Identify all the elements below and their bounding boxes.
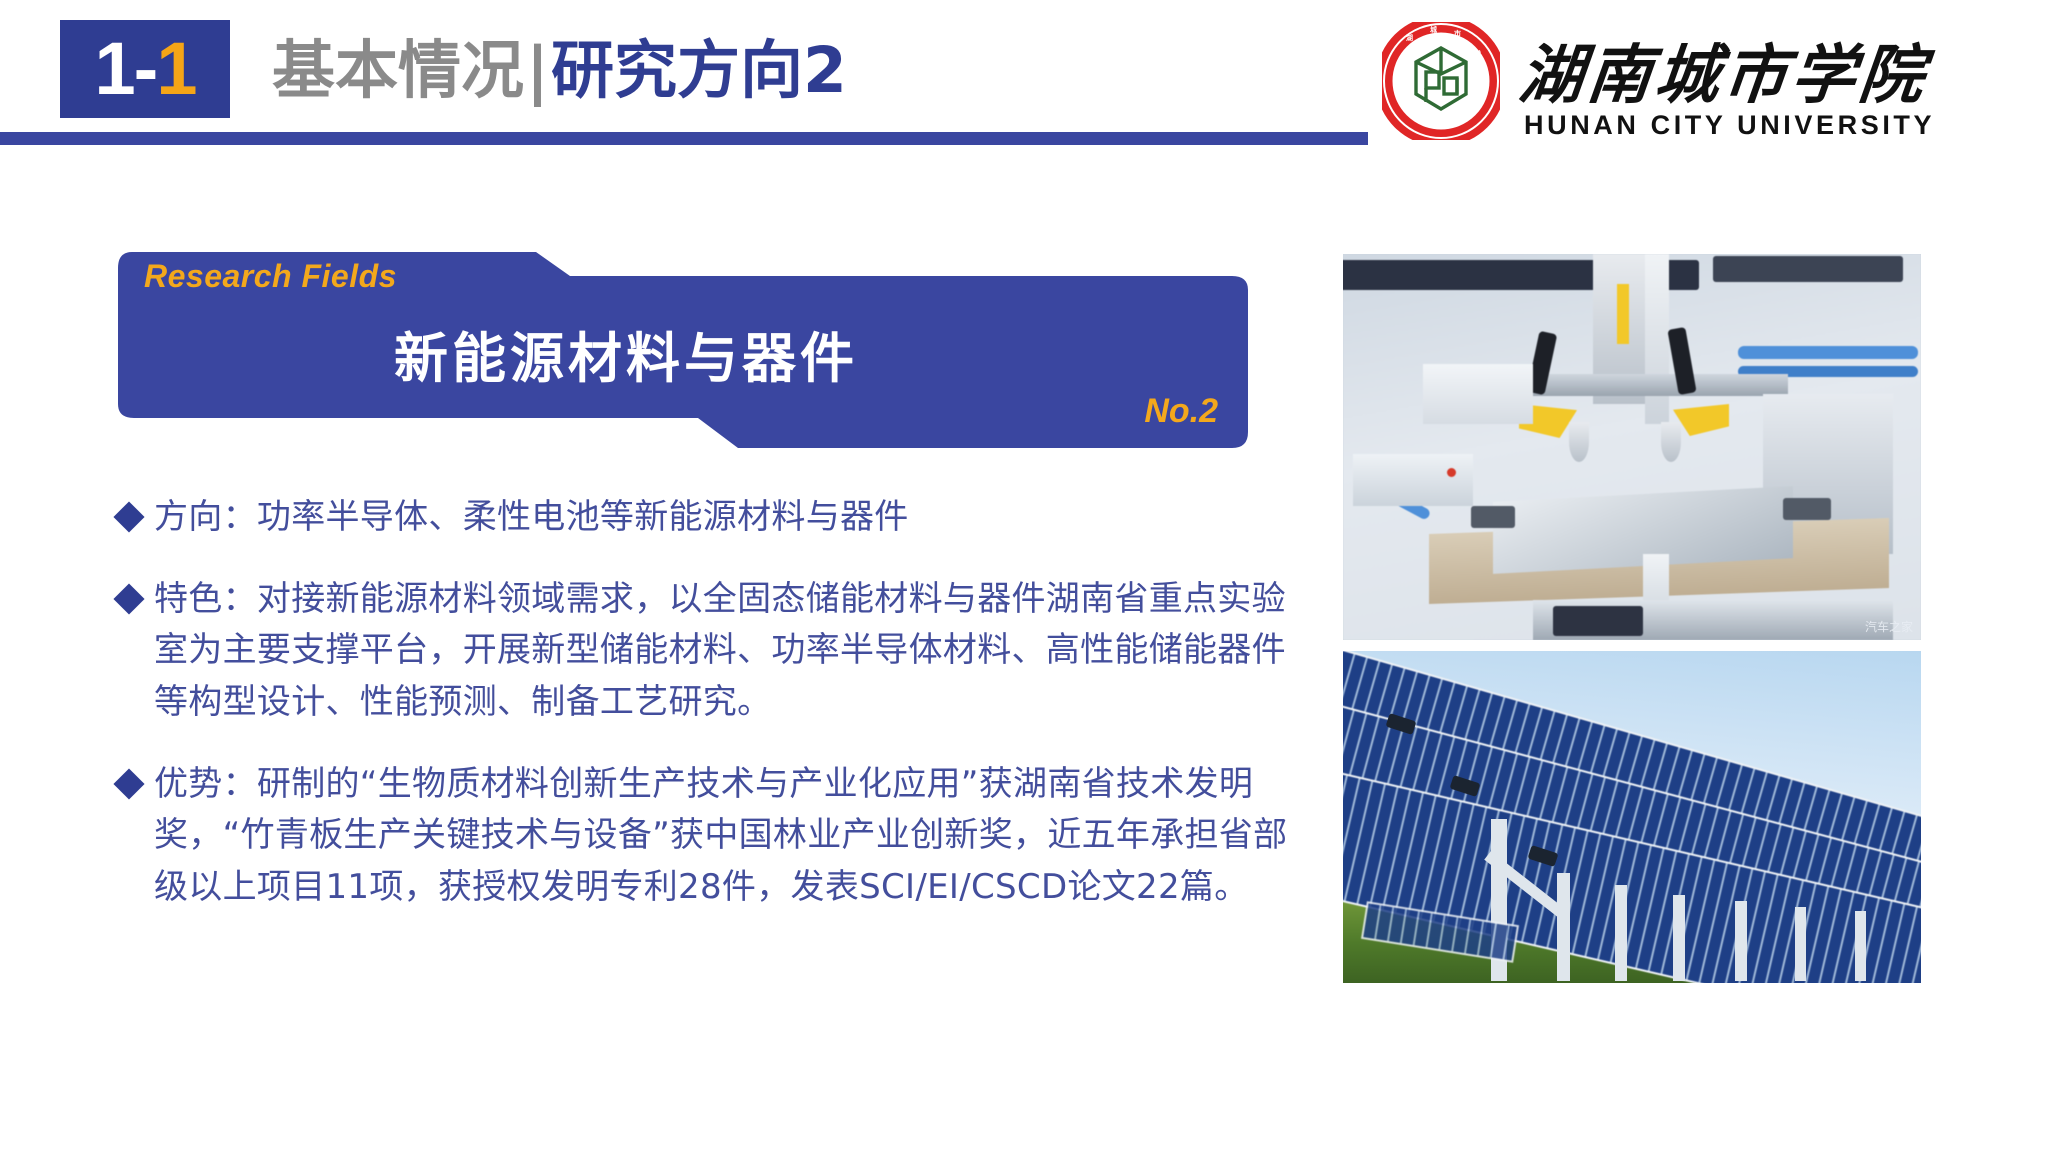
university-name-cn: 湖南城市学院: [1515, 24, 1933, 116]
bullet-text: 特色：对接新能源材料领域需求，以全固态储能材料与器件湖南省重点实验室为主要支撑平…: [154, 574, 1318, 729]
automated-battery-assembly-line-photo: 汽车之家: [1343, 254, 1921, 640]
page-title: 基本情况 | 研究方向2: [272, 22, 847, 118]
banner-label: Research Fields: [144, 258, 397, 295]
svg-text:城: 城: [1430, 25, 1437, 34]
banner-title: 新能源材料与器件: [118, 314, 1134, 393]
banner-number: No.2: [118, 392, 1218, 431]
list-item: 特色：对接新能源材料领域需求，以全固态储能材料与器件湖南省重点实验室为主要支撑平…: [118, 574, 1318, 729]
svg-text:湖: 湖: [1406, 33, 1413, 42]
svg-text:市: 市: [1454, 29, 1461, 38]
research-fields-banner: Research Fields 新能源材料与器件 No.2: [118, 238, 1248, 448]
svg-text:院: 院: [1476, 79, 1483, 88]
photo-watermark: 汽车之家: [1865, 618, 1913, 635]
solar-panel-array-photo: [1343, 651, 1921, 983]
page-title-secondary: 研究方向2: [551, 39, 847, 102]
page-title-divider: |: [526, 39, 549, 102]
research-bullet-list: 方向：功率半导体、柔性电池等新能源材料与器件 特色：对接新能源材料领域需求，以全…: [118, 492, 1318, 944]
badge-separator: -: [134, 32, 157, 106]
diamond-bullet-icon: [113, 768, 144, 799]
bullet-text: 优势：研制的“生物质材料创新生产技术与产业化应用”获湖南省技术发明奖，“竹青板生…: [154, 759, 1318, 914]
diamond-bullet-icon: [113, 501, 144, 532]
list-item: 优势：研制的“生物质材料创新生产技术与产业化应用”获湖南省技术发明奖，“竹青板生…: [118, 759, 1318, 914]
bullet-text: 方向：功率半导体、柔性电池等新能源材料与器件: [154, 492, 1318, 544]
section-number-badge: 1 - 1: [60, 20, 230, 118]
badge-number-second: 1: [156, 32, 195, 106]
header-divider-bar: [0, 132, 1368, 145]
list-item: 方向：功率半导体、柔性电池等新能源材料与器件: [118, 492, 1318, 544]
university-name-en: HUNAN CITY UNIVERSITY: [1524, 110, 1935, 141]
page-title-primary: 基本情况: [272, 39, 524, 102]
svg-text:学: 学: [1474, 49, 1481, 58]
university-seal-icon: 湖城市学院 HUNAN CITY UNIVERSITY: [1382, 22, 1500, 140]
badge-number-first: 1: [95, 32, 134, 106]
diamond-bullet-icon: [113, 583, 144, 614]
university-logo: 湖城市学院 HUNAN CITY UNIVERSITY 湖南城市学院 HUNAN…: [1382, 22, 2022, 142]
